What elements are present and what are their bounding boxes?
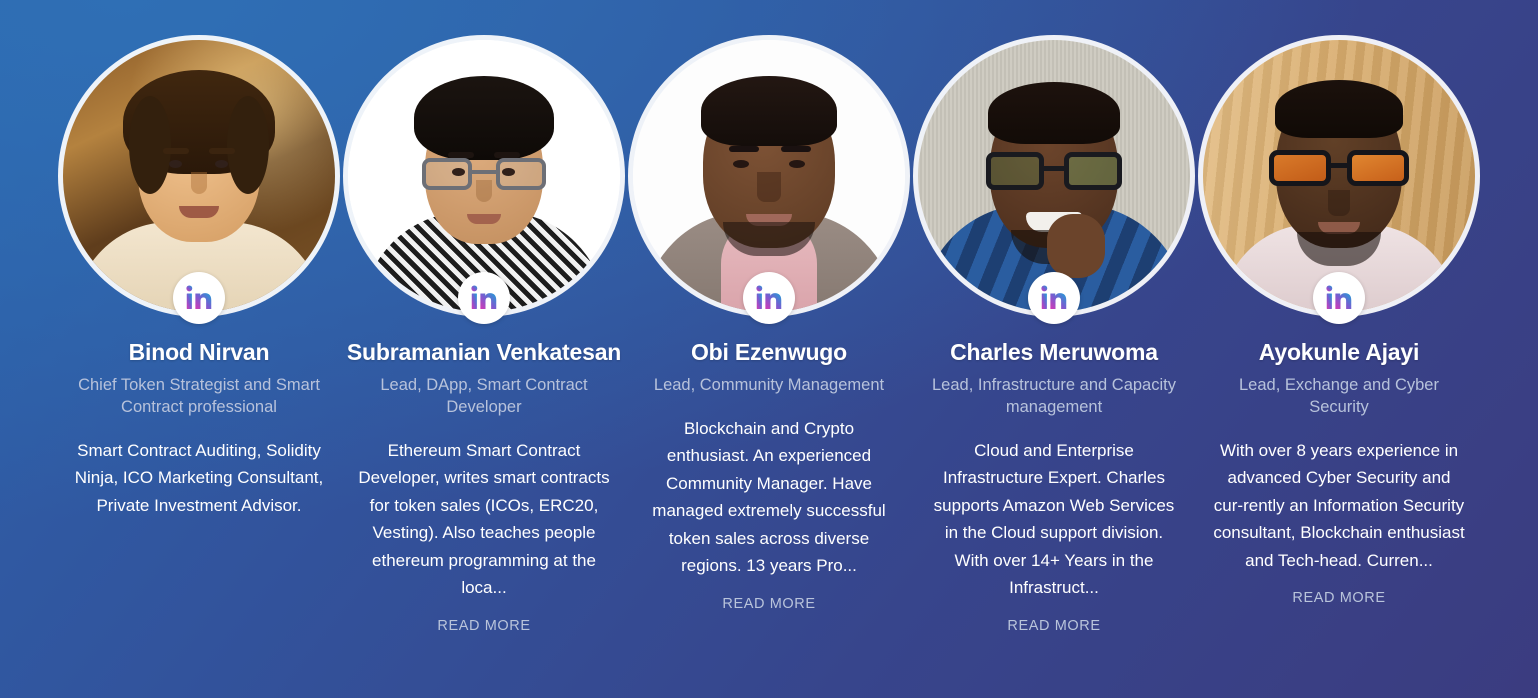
member-role: Lead, Infrastructure and Capacity manage… [928, 375, 1180, 419]
linkedin-icon [1039, 283, 1069, 313]
linkedin-badge[interactable] [1028, 272, 1080, 324]
member-name: Charles Meruwoma [950, 338, 1158, 366]
read-more-link[interactable]: READ MORE [437, 618, 530, 634]
member-name: Ayokunle Ajayi [1259, 338, 1419, 366]
avatar-wrap [348, 40, 620, 312]
read-more-link[interactable]: READ MORE [722, 596, 815, 612]
avatar-wrap [1203, 40, 1475, 312]
linkedin-badge[interactable] [1313, 272, 1365, 324]
member-name: Binod Nirvan [129, 338, 270, 366]
linkedin-icon [469, 283, 499, 313]
read-more-link[interactable]: READ MORE [1007, 618, 1100, 634]
member-role: Chief Token Strategist and Smart Contrac… [73, 375, 325, 419]
team-member-card: Obi Ezenwugo Lead, Community Management … [627, 40, 912, 612]
team-member-card: Binod Nirvan Chief Token Strategist and … [57, 40, 342, 551]
linkedin-badge[interactable] [458, 272, 510, 324]
linkedin-icon [754, 283, 784, 313]
avatar-wrap [633, 40, 905, 312]
team-member-card: Subramanian Venkatesan Lead, DApp, Smart… [342, 40, 627, 634]
member-bio: With over 8 years experience in advanced… [1211, 437, 1467, 575]
member-name: Subramanian Venkatesan [347, 338, 621, 366]
team-members-row: Binod Nirvan Chief Token Strategist and … [0, 0, 1538, 698]
member-bio: Blockchain and Crypto enthusiast. An exp… [641, 415, 897, 580]
member-role: Lead, Community Management [654, 375, 884, 397]
member-bio: Ethereum Smart Contract Developer, write… [356, 437, 612, 602]
linkedin-icon [1324, 283, 1354, 313]
member-role: Lead, DApp, Smart Contract Developer [358, 375, 610, 419]
avatar-wrap [918, 40, 1190, 312]
linkedin-badge[interactable] [173, 272, 225, 324]
read-more-link[interactable]: READ MORE [1292, 590, 1385, 606]
linkedin-badge[interactable] [743, 272, 795, 324]
member-bio: Smart Contract Auditing, Solidity Ninja,… [71, 437, 327, 520]
member-bio: Cloud and Enterprise Infrastructure Expe… [926, 437, 1182, 602]
team-member-card: Charles Meruwoma Lead, Infrastructure an… [912, 40, 1197, 634]
avatar-wrap [63, 40, 335, 312]
member-name: Obi Ezenwugo [691, 338, 847, 366]
linkedin-icon [184, 283, 214, 313]
member-role: Lead, Exchange and Cyber Security [1213, 375, 1465, 419]
team-member-card: Ayokunle Ajayi Lead, Exchange and Cyber … [1197, 40, 1482, 606]
